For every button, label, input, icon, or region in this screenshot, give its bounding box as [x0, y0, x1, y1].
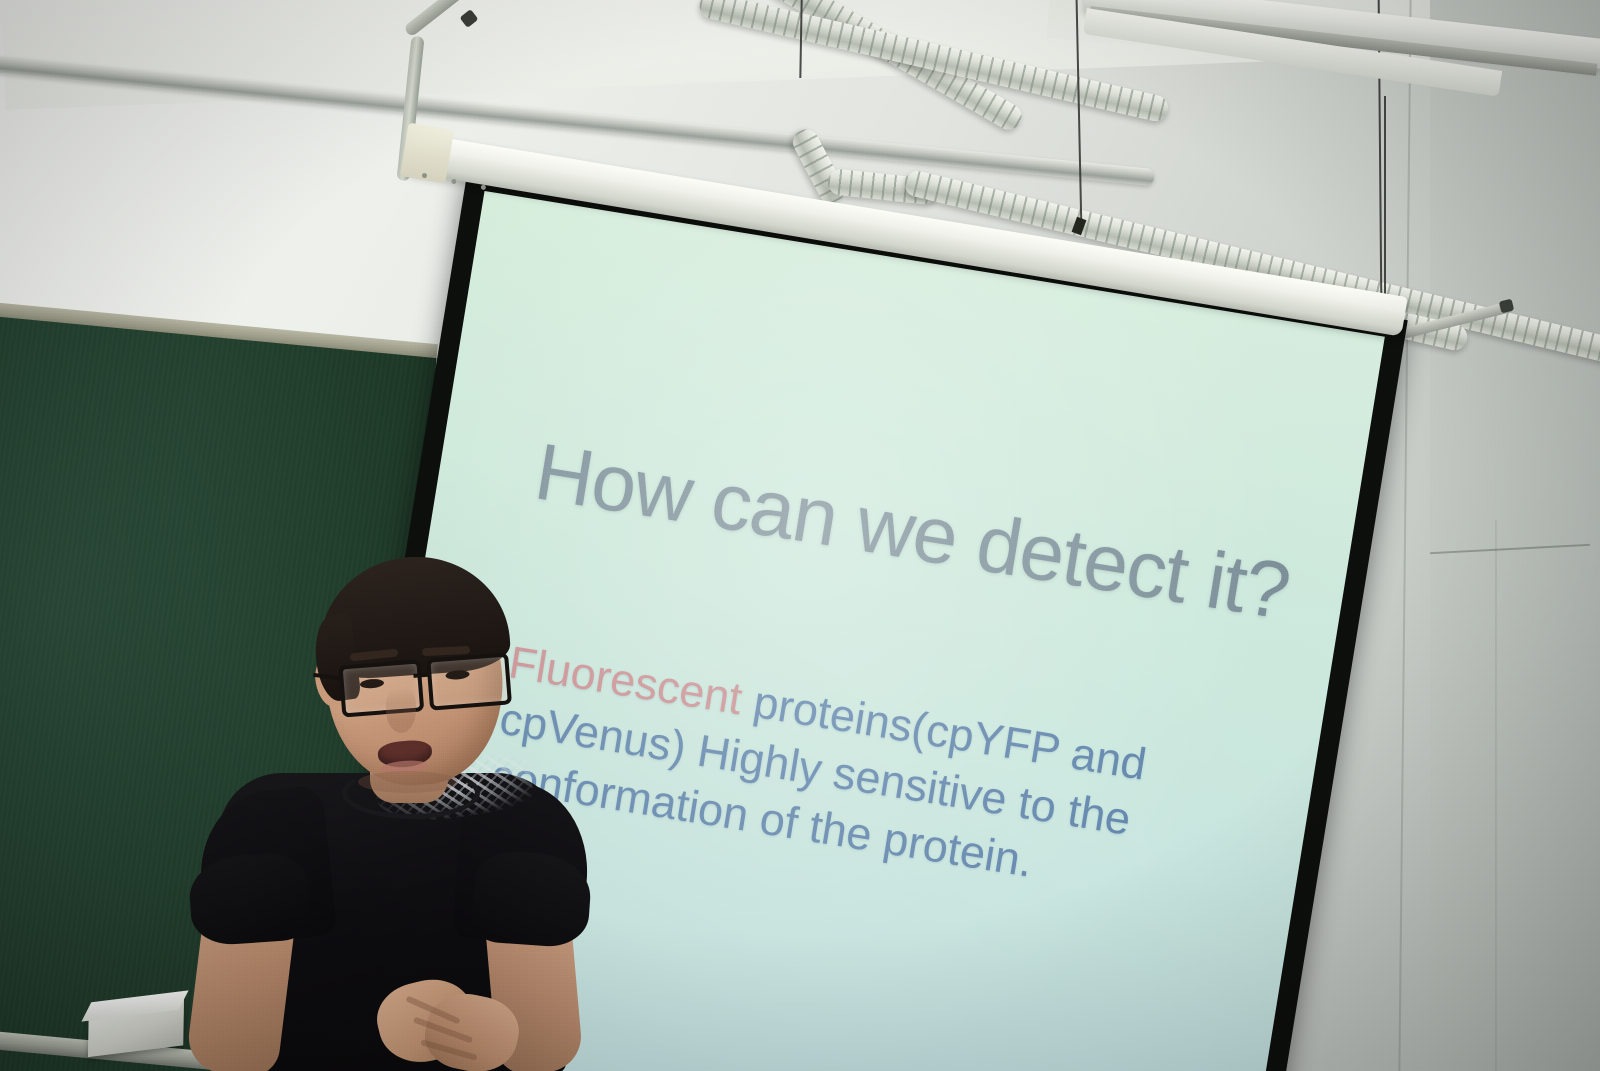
presenter-nose — [386, 687, 416, 733]
wall-right-panel — [1430, 0, 1600, 1071]
slide-title: How can we detect it? — [529, 425, 1296, 638]
presenter — [190, 555, 610, 1071]
hanging-wire — [1384, 96, 1386, 326]
wall-seam-line-secondary — [1495, 520, 1497, 1071]
classroom-presentation-photo: How can we detect it? Fluorescent protei… — [0, 0, 1600, 1071]
presenter-chin-shadow — [358, 771, 458, 793]
glasses-lens-right — [426, 652, 512, 710]
